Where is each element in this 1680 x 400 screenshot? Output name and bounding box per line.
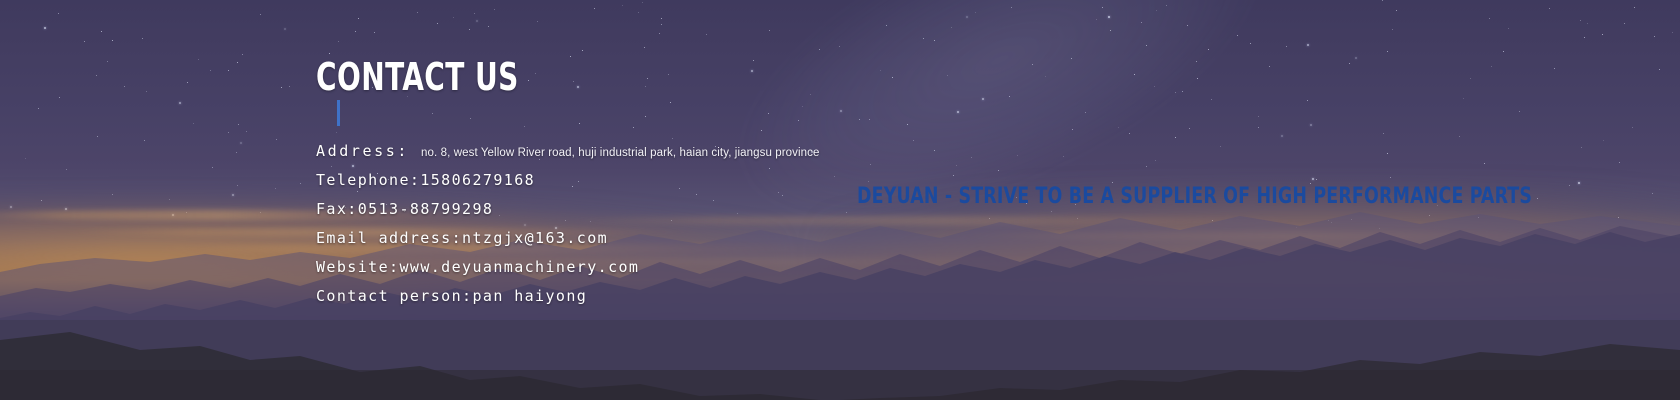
contact-row: Website: www.deyuanmachinery.com: [316, 258, 820, 287]
contact-label: Telephone:: [316, 171, 420, 189]
contact-label: Email address:: [316, 229, 462, 247]
company-tagline: DEYUAN - STRIVE TO BE A SUPPLIER OF HIGH…: [857, 184, 1532, 209]
contact-details-list: Address:no. 8, west Yellow River road, h…: [316, 142, 820, 316]
banner-content: CONTACT US Address:no. 8, west Yellow Ri…: [0, 0, 1680, 400]
page-title: CONTACT US: [316, 58, 519, 96]
contact-row: Fax: 0513-88799298: [316, 200, 820, 229]
contact-row: Telephone: 15806279168: [316, 171, 820, 200]
contact-banner: CONTACT US Address:no. 8, west Yellow Ri…: [0, 0, 1680, 400]
contact-label: Fax:: [316, 200, 358, 218]
contact-value: ntzgjx@163.com: [462, 229, 608, 247]
title-accent-bar: [337, 100, 340, 126]
contact-label: Website:: [316, 258, 399, 276]
contact-value: no. 8, west Yellow River road, huji indu…: [421, 147, 819, 159]
contact-row: Email address: ntzgjx@163.com: [316, 229, 820, 258]
contact-value: www.deyuanmachinery.com: [399, 258, 639, 276]
contact-value: 15806279168: [420, 171, 535, 189]
contact-label: Address:: [316, 142, 409, 160]
contact-row: Address:no. 8, west Yellow River road, h…: [316, 142, 820, 171]
contact-value: 0513-88799298: [358, 200, 494, 218]
contact-label: Contact person:: [316, 287, 472, 305]
contact-row: Contact person: pan haiyong: [316, 287, 820, 316]
contact-value: pan haiyong: [472, 287, 587, 305]
